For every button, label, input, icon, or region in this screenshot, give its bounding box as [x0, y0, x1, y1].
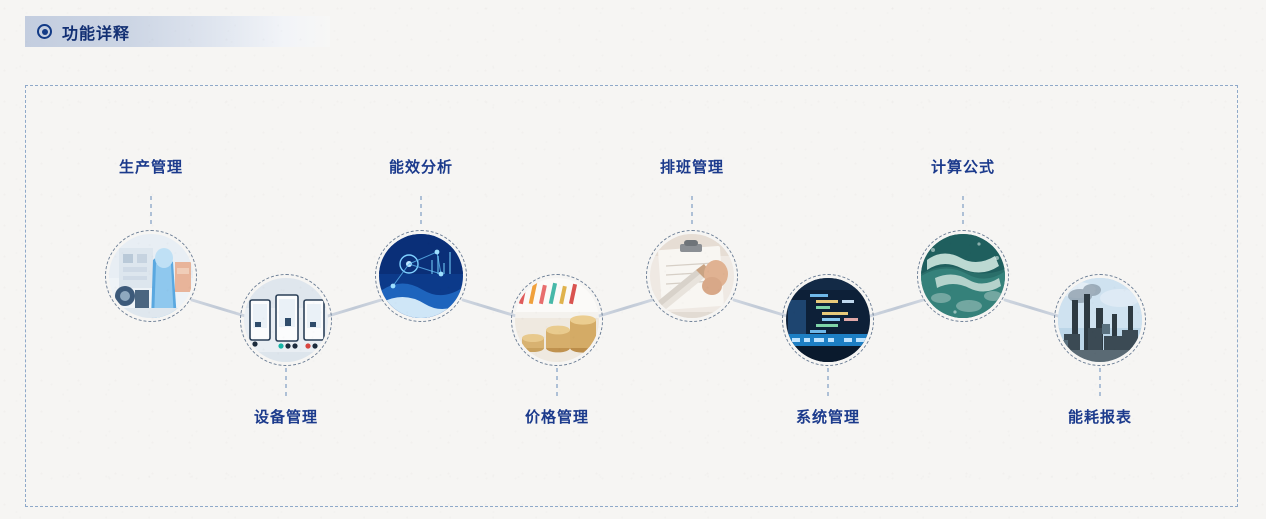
technician-control-panel-photo[interactable]: [105, 230, 197, 322]
coin-stacks-chart-photo[interactable]: [511, 274, 603, 366]
digital-network-analytics-photo[interactable]: [375, 230, 467, 322]
flow-node-label: 系统管理: [753, 406, 903, 427]
flow-node-label: 生产管理: [76, 156, 226, 177]
flow-node-label: 排班管理: [617, 156, 767, 177]
flow-node-label: 计算公式: [888, 156, 1038, 177]
aerial-landscape-photo[interactable]: [917, 230, 1009, 322]
code-terminal-screen-photo[interactable]: [782, 274, 874, 366]
device-meters-photo[interactable]: [240, 274, 332, 366]
flow-node-label: 能效分析: [346, 156, 496, 177]
flow-node-label: 能耗报表: [1025, 406, 1175, 427]
industrial-smokestacks-photo[interactable]: [1054, 274, 1146, 366]
flow-node-label: 价格管理: [482, 406, 632, 427]
handwritten-schedule-clipboard-photo[interactable]: [646, 230, 738, 322]
flow-diagram: 生产管理: [0, 0, 1266, 519]
flow-node-label: 设备管理: [211, 406, 361, 427]
